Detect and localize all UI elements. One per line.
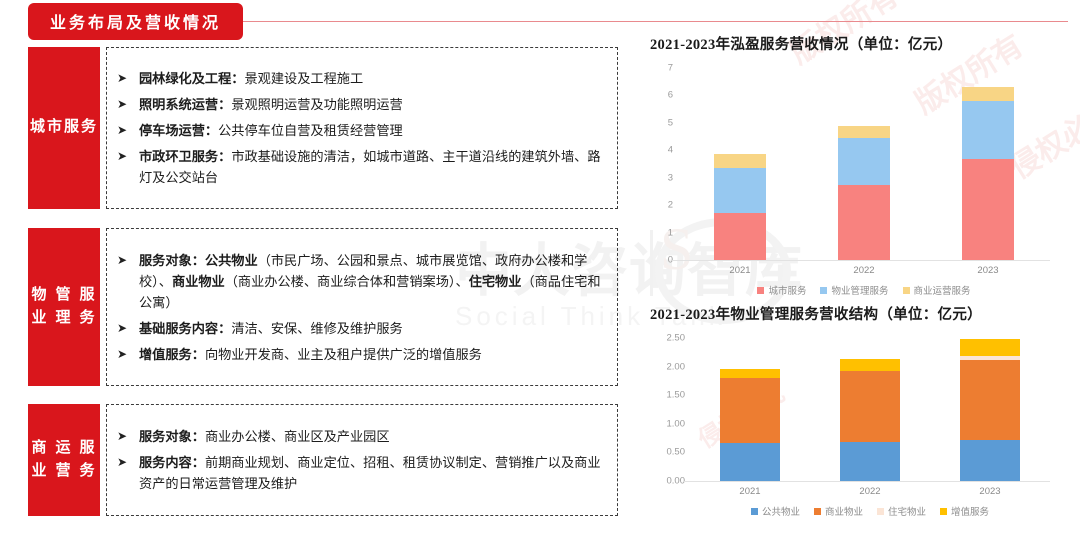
chart-legend-label: 住宅物业 — [888, 504, 926, 518]
chart-legend-swatch — [903, 287, 910, 294]
chart-ytick-label: 7 — [668, 63, 673, 74]
chart-xtick-label: 2021 — [678, 265, 802, 276]
chart-bar-segment[interactable] — [960, 440, 1020, 481]
bullet-arrow-icon: ➤ — [117, 452, 139, 472]
chart-legend-label: 公共物业 — [762, 504, 800, 518]
chart-legend-item[interactable]: 商业物业 — [814, 504, 863, 518]
bullet-item-text: 服务内容：前期商业规划、商业定位、招租、租赁协议制定、营销推广以及商业资产的日常… — [139, 452, 605, 494]
chart-bar[interactable] — [840, 359, 900, 481]
bullet-item: ➤市政环卫服务：市政基础设施的清洁，如城市道路、主干道沿线的建筑外墙、路灯及公交… — [117, 146, 605, 188]
bullet-item: ➤基础服务内容：清洁、安保、维修及维护服务 — [117, 318, 605, 339]
chart-plot-pm-revenue-structure: 0.000.501.001.502.002.50 — [690, 338, 1050, 481]
chart-bar-segment[interactable] — [962, 101, 1014, 159]
chart-bar-segment[interactable] — [962, 159, 1014, 260]
chart-bar-slot — [926, 68, 1050, 260]
chart-bar-segment[interactable] — [714, 154, 766, 168]
chart-legend-label: 增值服务 — [951, 504, 989, 518]
business-block-label-line: 城市 — [30, 116, 64, 139]
chart-bar-segment[interactable] — [838, 138, 890, 185]
bullet-item-text: 市政环卫服务：市政基础设施的清洁，如城市道路、主干道沿线的建筑外墙、路灯及公交站… — [139, 146, 605, 188]
section-header: 业务布局及营收情况 — [28, 6, 1068, 36]
chart-ytick-label: 3 — [668, 172, 673, 183]
bullet-arrow-icon: ➤ — [117, 120, 139, 140]
chart-legend-item[interactable]: 商业运营服务 — [903, 283, 971, 297]
business-block-label-line: 物业 — [28, 284, 52, 331]
bullet-item: ➤服务对象：商业办公楼、商业区及产业园区 — [117, 426, 605, 447]
bullet-item-text: 照明系统运营：景观照明运营及功能照明运营 — [139, 94, 403, 115]
bullet-item-text: 服务对象：公共物业（市民广场、公园和景点、城市展览馆、政府办公楼和学校）、商业物… — [139, 250, 605, 313]
chart-bar-slot — [810, 338, 930, 481]
business-block-city-service: 城市服务 ➤园林绿化及工程：景观建设及工程施工➤照明系统运营：景观照明运营及功能… — [28, 47, 618, 209]
chart-legend-label: 城市服务 — [768, 283, 806, 297]
chart-legend-item[interactable]: 物业管理服务 — [820, 283, 888, 297]
chart-plot-revenue-by-segment: 01234567 — [678, 68, 1050, 260]
chart-axis-line — [672, 260, 1050, 261]
chart-legend-swatch — [814, 508, 821, 515]
chart-legend-item[interactable]: 住宅物业 — [877, 504, 926, 518]
chart-bar-segment[interactable] — [720, 378, 780, 443]
business-block-label-line: 运营 — [52, 437, 76, 484]
chart-bar[interactable] — [962, 87, 1014, 260]
chart-bar-segment[interactable] — [714, 168, 766, 213]
page-title: 业务布局及营收情况 — [28, 3, 243, 40]
chart-ytick-label: 6 — [668, 90, 673, 101]
chart-ytick-label: 2.00 — [667, 361, 686, 372]
chart-title-pm-revenue-structure: 2021-2023年物业管理服务营收结构（单位：亿元） — [650, 303, 1070, 324]
chart-bar-segment[interactable] — [840, 359, 900, 371]
bullet-arrow-icon: ➤ — [117, 250, 139, 270]
chart-bar[interactable] — [714, 154, 766, 260]
chart-bar-segment[interactable] — [838, 185, 890, 260]
bullet-item-text: 服务对象：商业办公楼、商业区及产业园区 — [139, 426, 390, 447]
chart-bar[interactable] — [720, 369, 780, 481]
chart-title-revenue-by-segment: 2021-2023年泓盈服务营收情况（单位：亿元） — [650, 33, 1070, 54]
chart-bars — [690, 338, 1050, 481]
chart-ytick-label: 5 — [668, 117, 673, 128]
chart-legend-swatch — [820, 287, 827, 294]
chart-bar-segment[interactable] — [838, 126, 890, 138]
business-block-label-line: 服务 — [76, 437, 100, 484]
chart-bar-segment[interactable] — [960, 339, 1020, 356]
bullet-item: ➤服务对象：公共物业（市民广场、公园和景点、城市展览馆、政府办公楼和学校）、商业… — [117, 250, 605, 313]
chart-legend-item[interactable]: 公共物业 — [751, 504, 800, 518]
business-block-label: 城市服务 — [28, 47, 100, 209]
chart-legend-label: 商业物业 — [825, 504, 863, 518]
chart-legend-label: 商业运营服务 — [914, 283, 971, 297]
chart-bar[interactable] — [960, 339, 1020, 481]
chart-bar-segment[interactable] — [720, 443, 780, 481]
chart-xtick-label: 2023 — [930, 486, 1050, 497]
bullet-item: ➤照明系统运营：景观照明运营及功能照明运营 — [117, 94, 605, 115]
chart-xtick-label: 2021 — [690, 486, 810, 497]
chart-xaxis-pm-revenue-structure: 202120222023 — [690, 486, 1050, 497]
chart-bar-segment[interactable] — [840, 442, 900, 481]
bullet-arrow-icon: ➤ — [117, 68, 139, 88]
bullet-item: ➤园林绿化及工程：景观建设及工程施工 — [117, 68, 605, 89]
business-block-label-line: 商业 — [28, 437, 52, 484]
chart-legend-item[interactable]: 增值服务 — [940, 504, 989, 518]
chart-bar-segment[interactable] — [960, 360, 1020, 441]
chart-ytick-label: 1 — [668, 227, 673, 238]
chart-bars — [678, 68, 1050, 260]
chart-bar-segment[interactable] — [714, 213, 766, 260]
bullet-item-text: 基础服务内容：清洁、安保、维修及维护服务 — [139, 318, 403, 339]
chart-bar-segment[interactable] — [720, 369, 780, 378]
business-block-commercial-operation: 商业运营服务 ➤服务对象：商业办公楼、商业区及产业园区➤服务内容：前期商业规划、… — [28, 404, 618, 516]
chart-axis-line — [684, 481, 1050, 482]
bullet-item-text: 园林绿化及工程：景观建设及工程施工 — [139, 68, 363, 89]
chart-ytick-label: 2 — [668, 200, 673, 211]
chart-bar-segment[interactable] — [840, 371, 900, 441]
chart-xtick-label: 2022 — [810, 486, 930, 497]
chart-legend-swatch — [751, 508, 758, 515]
bullet-arrow-icon: ➤ — [117, 94, 139, 114]
bullet-arrow-icon: ➤ — [117, 344, 139, 364]
chart-bar-slot — [802, 68, 926, 260]
chart-legend-label: 物业管理服务 — [831, 283, 888, 297]
chart-bar-slot — [678, 68, 802, 260]
chart-xaxis-revenue-by-segment: 202120222023 — [678, 265, 1050, 276]
chart-bar-slot — [930, 338, 1050, 481]
chart-legend-pm-revenue-structure: 公共物业商业物业住宅物业增值服务 — [690, 504, 1050, 518]
business-block-body: ➤服务对象：公共物业（市民广场、公园和景点、城市展览馆、政府办公楼和学校）、商业… — [106, 228, 618, 386]
header-divider — [243, 21, 1068, 22]
chart-ytick-label: 0.50 — [667, 447, 686, 458]
chart-legend-swatch — [940, 508, 947, 515]
chart-ytick-label: 2.50 — [667, 333, 686, 344]
bullet-item: ➤服务内容：前期商业规划、商业定位、招租、租赁协议制定、营销推广以及商业资产的日… — [117, 452, 605, 494]
business-block-property-management: 物业管理服务 ➤服务对象：公共物业（市民广场、公园和景点、城市展览馆、政府办公楼… — [28, 228, 618, 386]
chart-ytick-label: 4 — [668, 145, 673, 156]
bullet-item: ➤停车场运营：公共停车位自营及租赁经营管理 — [117, 120, 605, 141]
chart-xtick-label: 2022 — [802, 265, 926, 276]
chart-ytick-label: 1.50 — [667, 390, 686, 401]
slide-canvas: 中大咨询智库 Social Think Tank 版权所有 侵权必究 版权所有 … — [0, 0, 1080, 538]
business-block-body: ➤服务对象：商业办公楼、商业区及产业园区➤服务内容：前期商业规划、商业定位、招租… — [106, 404, 618, 516]
chart-bar[interactable] — [838, 126, 890, 260]
business-block-label: 物业管理服务 — [28, 228, 100, 386]
bullet-arrow-icon: ➤ — [117, 146, 139, 166]
chart-bar-slot — [690, 338, 810, 481]
bullet-arrow-icon: ➤ — [117, 318, 139, 338]
business-block-body: ➤园林绿化及工程：景观建设及工程施工➤照明系统运营：景观照明运营及功能照明运营➤… — [106, 47, 618, 209]
business-block-label: 商业运营服务 — [28, 404, 100, 516]
business-block-label-line: 服务 — [64, 116, 98, 139]
business-block-label-line: 管理 — [52, 284, 76, 331]
chart-ytick-label: 0.00 — [667, 476, 686, 487]
chart-legend-revenue-by-segment: 城市服务物业管理服务商业运营服务 — [678, 283, 1050, 297]
bullet-item-text: 停车场运营：公共停车位自营及租赁经营管理 — [139, 120, 403, 141]
bullet-item: ➤增值服务：向物业开发商、业主及租户提供广泛的增值服务 — [117, 344, 605, 365]
chart-xtick-label: 2023 — [926, 265, 1050, 276]
chart-bar-segment[interactable] — [962, 87, 1014, 101]
business-block-label-line: 服务 — [76, 284, 100, 331]
bullet-arrow-icon: ➤ — [117, 426, 139, 446]
chart-legend-swatch — [877, 508, 884, 515]
chart-ytick-label: 1.00 — [667, 418, 686, 429]
chart-legend-item[interactable]: 城市服务 — [757, 283, 806, 297]
bullet-item-text: 增值服务：向物业开发商、业主及租户提供广泛的增值服务 — [139, 344, 482, 365]
chart-legend-swatch — [757, 287, 764, 294]
